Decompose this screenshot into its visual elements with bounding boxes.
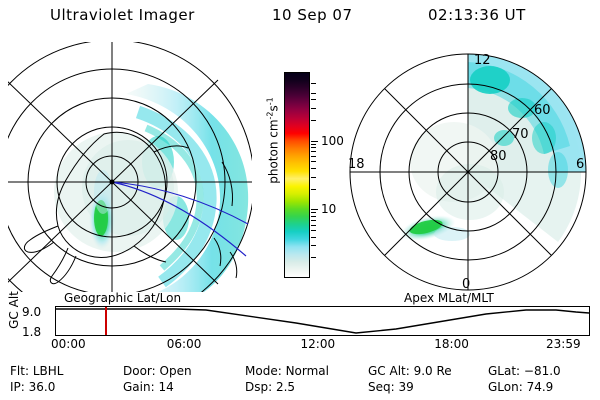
status-item: IP: 36.0	[10, 380, 55, 394]
time-tick-2359: 23:59	[546, 338, 581, 350]
orbit-altitude-strip[interactable]: Geographic Lat/Lon Apex MLat/MLT GC Alt …	[0, 292, 600, 354]
colorbar-minor-tick	[311, 220, 316, 221]
status-row-1: Flt: LBHLDoor: OpenMode: NormalGC Alt: 9…	[0, 364, 600, 380]
status-item: Mode: Normal	[245, 364, 329, 378]
mlt-label-6: 6	[576, 157, 584, 172]
status-item: Seq: 39	[368, 380, 414, 394]
status-item: Gain: 14	[123, 380, 174, 394]
status-key: IP:	[10, 380, 29, 394]
colorbar-label-exp1: -2	[266, 111, 275, 119]
colorbar-tick-label: 10	[321, 203, 336, 215]
colorbar-gradient-box	[284, 72, 310, 278]
status-value: 2.5	[276, 380, 295, 394]
colorbar-minor-tick	[311, 212, 316, 213]
altitude-plot-box[interactable]	[55, 306, 590, 336]
status-value: LBHL	[33, 364, 64, 378]
time-tick-1800: 18:00	[434, 338, 469, 350]
status-value: −81.0	[524, 364, 561, 378]
colorbar-minor-tick	[311, 237, 316, 238]
time-tick-0600: 06:00	[167, 338, 202, 350]
status-key: Mode:	[245, 364, 286, 378]
colorbar-minor-tick	[311, 83, 316, 84]
mlt-label-18: 18	[348, 157, 365, 172]
status-value: Normal	[286, 364, 329, 378]
observation-date: 10 Sep 07	[272, 8, 352, 23]
status-value: Open	[160, 364, 192, 378]
colorbar-label-exp2: -1	[266, 97, 275, 105]
status-item: Dsp: 2.5	[245, 380, 295, 394]
colorbar-minor-tick	[311, 156, 316, 157]
pole-marker	[110, 180, 115, 185]
status-item: GLon: 74.9	[488, 380, 553, 394]
apex-panel-title: Apex MLat/MLT	[404, 292, 494, 304]
instrument-title: Ultraviolet Imager	[50, 8, 195, 23]
time-cursor[interactable]	[105, 307, 107, 335]
status-key: GLat:	[488, 364, 524, 378]
status-key: Dsp:	[245, 380, 276, 394]
colorbar-minor-tick	[311, 93, 316, 94]
colorbar-minor-tick	[311, 108, 316, 109]
colorbar-label-main: photon cm	[267, 119, 281, 183]
colorbar-minor-tick	[311, 216, 316, 217]
status-row-2: IP: 36.0Gain: 14Dsp: 2.5Seq: 39GLon: 74.…	[0, 380, 600, 396]
status-value: 74.9	[527, 380, 554, 394]
apex-dial-svg: 12 6 0 18 60 70 80	[344, 42, 596, 292]
colorbar-minor-tick	[311, 177, 316, 178]
header-bar: Ultraviolet Imager 10 Sep 07 02:13:36 UT	[0, 8, 600, 30]
status-key: Door:	[123, 364, 160, 378]
colorbar-axis-label: photon cm-2s-1	[267, 76, 280, 206]
mlt-label-0: 0	[462, 277, 470, 292]
colorbar-minor-tick	[311, 147, 316, 148]
colorbar-minor-tick	[311, 245, 316, 246]
status-value: 9.0 Re	[414, 364, 452, 378]
colorbar-minor-tick	[311, 151, 316, 152]
gc-alt-tick-bottom: 1.8	[22, 326, 41, 338]
mlat-label-60: 60	[534, 103, 551, 118]
status-item: GLat: −81.0	[488, 364, 561, 378]
mlat-label-70: 70	[512, 127, 529, 142]
mlat-label-80: 80	[490, 149, 507, 164]
colorbar-minor-tick	[311, 168, 316, 169]
gc-alt-tick-top: 9.0	[22, 306, 41, 318]
status-item: GC Alt: 9.0 Re	[368, 364, 452, 378]
status-item: Flt: LBHL	[10, 364, 63, 378]
status-footer: Flt: LBHLDoor: OpenMode: NormalGC Alt: 9…	[0, 364, 600, 398]
colorbar: photon cm-2s-1 10010	[252, 48, 348, 298]
colorbar-minor-tick	[311, 144, 316, 145]
colorbar-major-tick	[311, 209, 318, 210]
geographic-panel-title: Geographic Lat/Lon	[64, 292, 181, 304]
colorbar-tick-label: 100	[321, 135, 344, 147]
status-value: 14	[158, 380, 173, 394]
colorbar-minor-tick	[311, 257, 316, 258]
status-value: 36.0	[29, 380, 56, 394]
status-key: Gain:	[123, 380, 158, 394]
colorbar-minor-tick	[311, 225, 316, 226]
time-tick-1200: 12:00	[301, 338, 336, 350]
status-key: GLon:	[488, 380, 527, 394]
time-cursor-layer[interactable]	[56, 307, 589, 335]
gc-alt-axis-label: GC Alt	[8, 280, 20, 340]
status-value: 39	[398, 380, 413, 394]
colorbar-minor-tick	[311, 189, 316, 190]
colorbar-minor-tick	[311, 230, 316, 231]
status-key: Flt:	[10, 364, 33, 378]
status-key: GC Alt:	[368, 364, 414, 378]
observation-time: 02:13:36 UT	[428, 8, 526, 23]
apex-dial-panel[interactable]: 12 6 0 18 60 70 80	[344, 42, 596, 292]
colorbar-minor-tick	[311, 99, 316, 100]
colorbar-minor-tick	[311, 120, 316, 121]
geographic-map-svg	[8, 42, 252, 292]
status-item: Door: Open	[123, 364, 192, 378]
time-tick-0000: 00:00	[51, 338, 86, 350]
mlt-label-12: 12	[474, 53, 491, 68]
colorbar-label-mid: s	[267, 105, 281, 111]
colorbar-minor-tick	[311, 161, 316, 162]
colorbar-gradient	[285, 73, 309, 277]
status-key: Seq:	[368, 380, 398, 394]
geographic-map-panel[interactable]	[8, 42, 252, 292]
colorbar-major-tick	[311, 141, 318, 142]
